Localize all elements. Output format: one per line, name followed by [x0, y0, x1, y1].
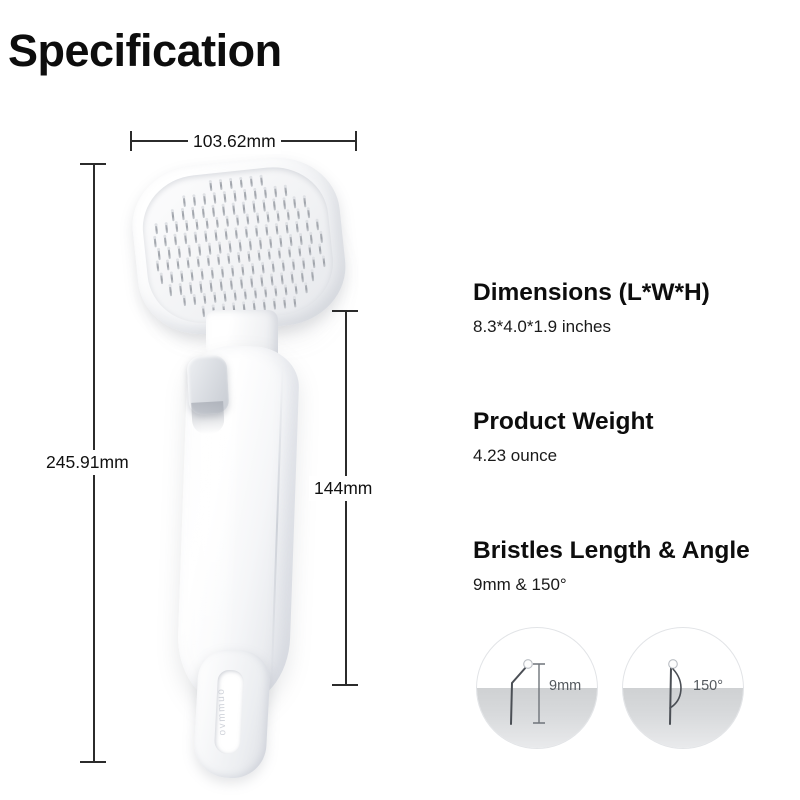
bristle-pad: [138, 162, 338, 329]
spec-title: Bristles Length & Angle: [473, 537, 750, 565]
height-dimension-label: 245.91mm: [41, 450, 134, 475]
spec-value: 9mm & 150°: [473, 575, 750, 595]
spec-title: Dimensions (L*W*H): [473, 279, 710, 307]
bristle-angle-drawing: [623, 628, 743, 748]
bristle-angle-label: 150°: [693, 678, 723, 694]
width-dimension-cap-right: [355, 131, 357, 151]
button-shadow: [191, 401, 225, 435]
bristle-length-label: 9mm: [549, 678, 581, 694]
spec-block-bristles: Bristles Length & Angle 9mm & 150°: [473, 537, 750, 596]
inner-dimension-label: 144mm: [309, 476, 377, 501]
specification-page: Specification: [0, 0, 800, 800]
height-dimension-cap-bottom: [80, 761, 106, 763]
spec-value: 4.23 ounce: [473, 446, 654, 466]
page-title: Specification: [8, 28, 282, 73]
product-illustration: ovmmuo: [120, 150, 370, 770]
spec-value: 8.3*4.0*1.9 inches: [473, 317, 710, 337]
width-dimension-cap-left: [130, 131, 132, 151]
bristle-length-diagram: 9mm: [476, 627, 598, 749]
inner-dimension-cap-top: [332, 310, 358, 312]
spec-title: Product Weight: [473, 408, 654, 436]
spec-block-dimensions: Dimensions (L*W*H) 8.3*4.0*1.9 inches: [473, 279, 710, 338]
spec-block-weight: Product Weight 4.23 ounce: [473, 408, 654, 467]
handle-edge-line: [270, 365, 283, 685]
width-dimension-label: 103.62mm: [188, 129, 281, 154]
bristle-pins-icon: [138, 162, 338, 329]
inner-dimension-cap-bottom: [332, 684, 358, 686]
bristle-angle-diagram: 150°: [622, 627, 744, 749]
height-dimension-cap-top: [80, 163, 106, 165]
